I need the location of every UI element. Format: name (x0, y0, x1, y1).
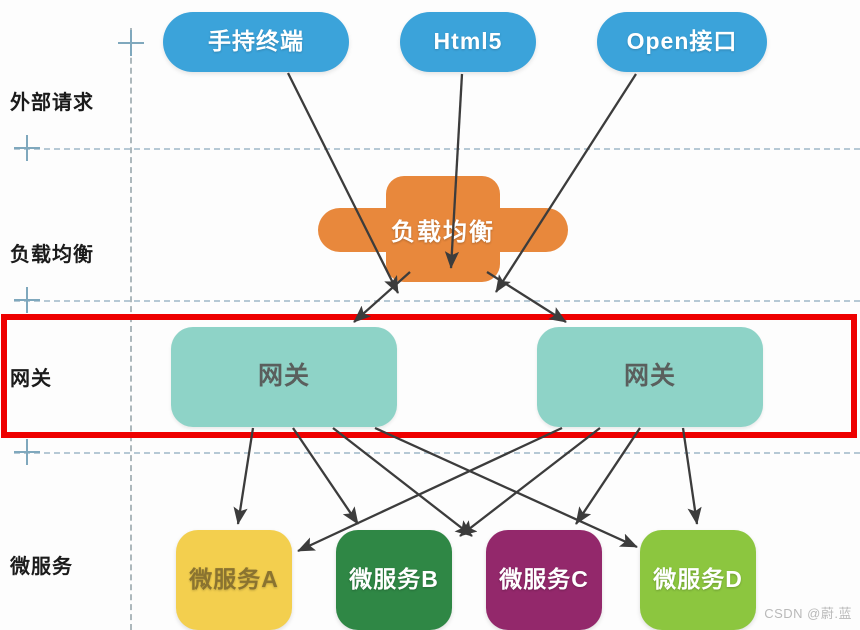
arrow-gateway-right-to-svc-b (460, 428, 600, 536)
client-node-html5-label: Html5 (434, 29, 503, 54)
microservice-node-c-label: 微服务C (499, 567, 589, 592)
diagram-canvas: 外部请求 负载均衡 网关 微服务 手持终端 Html5 Open接口 负载均衡 … (0, 0, 860, 630)
lane-divider-external-balancer (14, 148, 860, 150)
arrow-gateway-right-to-svc-c (576, 428, 640, 524)
gateway-node-left-label: 网关 (258, 363, 310, 391)
arrow-gateway-right-to-svc-d (683, 428, 697, 524)
microservice-node-a[interactable]: 微服务A (176, 530, 292, 630)
microservice-node-a-label: 微服务A (189, 567, 279, 592)
row-label-external: 外部请求 (10, 86, 94, 115)
load-balancer-label: 负载均衡 (318, 176, 568, 282)
arrow-gateway-left-to-svc-b (293, 428, 358, 524)
gateway-node-right-label: 网关 (624, 363, 676, 391)
microservice-node-d-label: 微服务D (653, 567, 743, 592)
row-label-services: 微服务 (10, 550, 73, 579)
client-node-html5[interactable]: Html5 (400, 12, 536, 72)
client-node-open-api-label: Open接口 (627, 29, 738, 54)
row-label-balancer: 负载均衡 (10, 238, 94, 267)
microservice-node-b-label: 微服务B (349, 567, 439, 592)
watermark: CSDN @蔚.蓝 (764, 603, 852, 622)
lane-divider-gateway-services (14, 452, 860, 454)
client-node-handheld[interactable]: 手持终端 (163, 12, 349, 72)
microservice-node-d[interactable]: 微服务D (640, 530, 756, 630)
gateway-node-right[interactable]: 网关 (537, 327, 763, 427)
arrow-gateway-left-to-svc-c (333, 428, 472, 536)
client-node-open-api[interactable]: Open接口 (597, 12, 767, 72)
arrow-gateway-left-to-svc-a (238, 428, 253, 524)
microservice-node-b[interactable]: 微服务B (336, 530, 452, 630)
gateway-node-left[interactable]: 网关 (171, 327, 397, 427)
load-balancer-node[interactable]: 负载均衡 (318, 176, 568, 282)
microservice-node-c[interactable]: 微服务C (486, 530, 602, 630)
client-node-handheld-label: 手持终端 (208, 29, 304, 54)
lane-divider-balancer-gateway (14, 300, 860, 302)
